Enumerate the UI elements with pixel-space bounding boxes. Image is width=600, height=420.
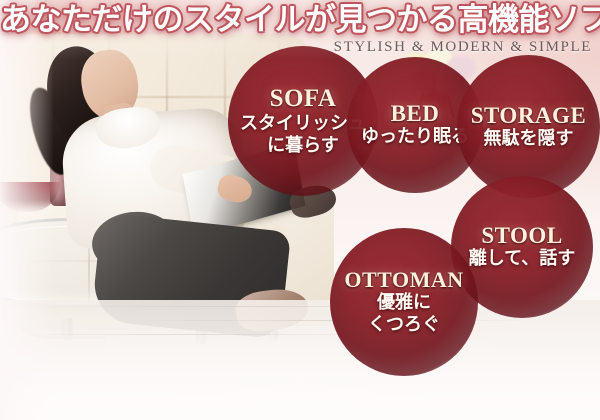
sofa-leg bbox=[62, 318, 73, 340]
knee bbox=[89, 208, 179, 276]
glass-table-leg bbox=[6, 296, 105, 339]
trousers bbox=[91, 212, 291, 339]
floor bbox=[0, 300, 600, 420]
bubble-stool-jp-line-1: 離して、話す bbox=[469, 248, 576, 269]
sofa-leg bbox=[196, 322, 207, 344]
tumbler-glass bbox=[50, 152, 76, 206]
hair-ponytail bbox=[22, 83, 81, 179]
page-subtitle: STYLISH & MODERN & SIMPLE bbox=[0, 39, 592, 56]
fruit-bowl bbox=[0, 182, 60, 212]
sofa-bed-promo-banner: SOFA スタイリッシュ に暮らす BED ゆったり眠る STORAGE 無駄を… bbox=[0, 0, 600, 420]
sofa-leg bbox=[268, 318, 279, 340]
bubble-stool-en: STOOL bbox=[481, 224, 562, 247]
feature-bubble-ottoman[interactable]: OTTOMAN 優雅に くつろぐ bbox=[330, 228, 478, 376]
hand bbox=[215, 172, 255, 206]
bubble-storage-en: STORAGE bbox=[471, 104, 587, 127]
bubble-sofa-en: SOFA bbox=[270, 86, 337, 111]
bubble-bed-en: BED bbox=[391, 102, 440, 125]
white-blouse bbox=[60, 106, 249, 250]
bubble-bed-jp-line-1: ゆったり眠る bbox=[361, 126, 469, 147]
glass-table-rim bbox=[0, 226, 180, 304]
sofa-armrest bbox=[214, 196, 334, 326]
bubble-sofa-jp-line-2: に暮らす bbox=[267, 135, 339, 156]
bubble-ottoman-jp-line-2: くつろぐ bbox=[368, 314, 440, 335]
bubble-ottoman-en: OTTOMAN bbox=[344, 269, 463, 291]
bubble-storage-jp-line-1: 無駄を隠す bbox=[484, 128, 574, 149]
blouse-collar bbox=[94, 104, 163, 153]
shoe-front bbox=[234, 285, 311, 335]
bubble-ottoman-jp-line-1: 優雅に bbox=[377, 292, 431, 313]
ottoman-seat bbox=[18, 206, 278, 324]
page-title: あなただけのスタイルが見つかる高機能ソファベッド bbox=[0, 2, 600, 38]
glass-side-table bbox=[0, 218, 188, 308]
neck bbox=[102, 102, 137, 137]
